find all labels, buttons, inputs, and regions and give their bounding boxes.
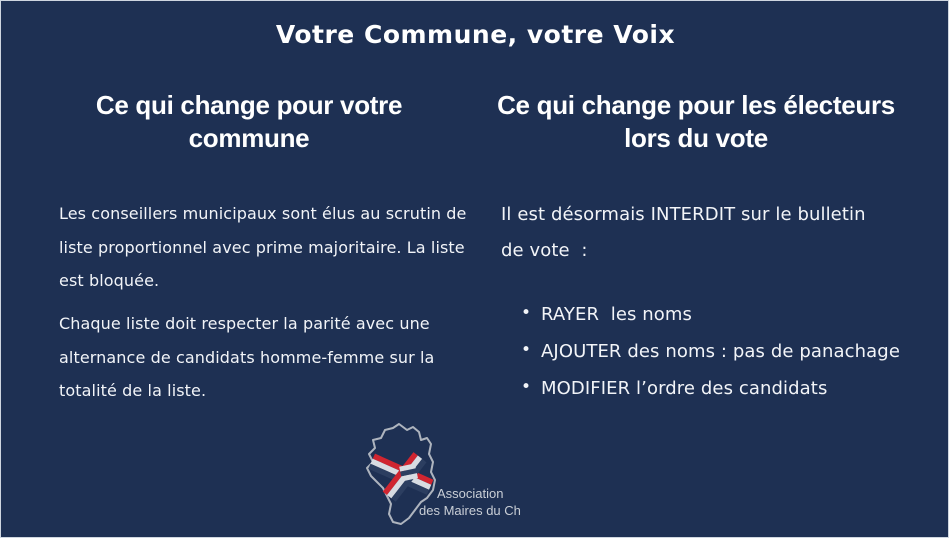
column-heading-right: Ce qui change pour les électeurs lors du… xyxy=(496,89,896,156)
logo-line-2: des Maires du Cher xyxy=(419,503,521,518)
page-title: Votre Commune, votre Voix xyxy=(1,21,949,49)
list-item: MODIFIER l’ordre des candidats xyxy=(521,375,921,403)
left-paragraph-2: Chaque liste doit respecter la parité av… xyxy=(59,307,479,408)
list-item-label: AJOUTER des noms : pas de panachage xyxy=(541,341,900,362)
association-des-maires-du-cher-logo: Association des Maires du Cher xyxy=(361,418,521,536)
list-item-label: RAYER les noms xyxy=(541,304,692,325)
list-item: AJOUTER des noms : pas de panachage xyxy=(521,338,921,366)
tricolor-sash-icon xyxy=(368,452,433,502)
logo-line-1: Association xyxy=(437,486,503,501)
left-paragraph-1: Les conseillers municipaux sont élus au … xyxy=(59,197,474,298)
slide-canvas: Votre Commune, votre Voix Ce qui change … xyxy=(0,0,949,538)
forbidden-actions-list: RAYER les noms AJOUTER des noms : pas de… xyxy=(521,301,921,412)
right-intro-text: Il est désormais INTERDIT sur le bulleti… xyxy=(501,197,881,269)
list-item: RAYER les noms xyxy=(521,301,921,329)
column-heading-left: Ce qui change pour votre commune xyxy=(47,89,451,156)
list-item-label: MODIFIER l’ordre des candidats xyxy=(541,378,827,399)
